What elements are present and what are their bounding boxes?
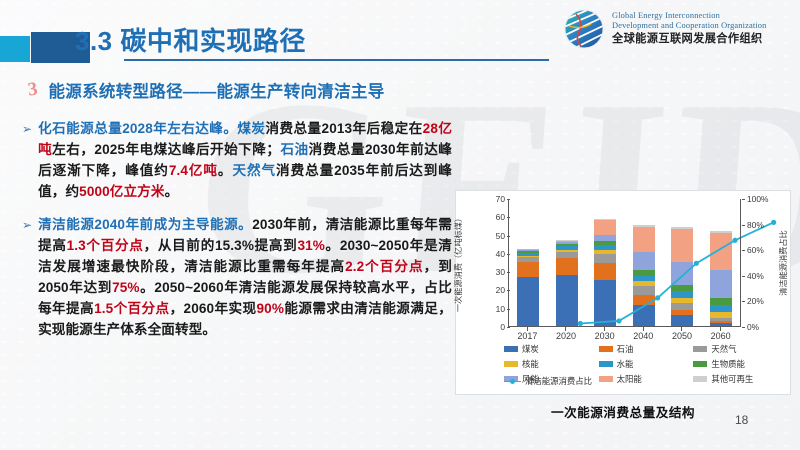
bullet-text: 清洁能源2040年前成为主导能源。2030年前，清洁能源比重每年需提高1.3个百… bbox=[38, 214, 452, 340]
chart-y-axis-label: 一次能源消费（亿吨标煤） bbox=[452, 214, 464, 312]
text-run: 5000亿立方米 bbox=[79, 184, 164, 199]
legend-item-太阳能: 太阳能 bbox=[599, 373, 692, 385]
globe-logo-icon bbox=[563, 8, 605, 50]
legend-swatch-icon bbox=[504, 361, 518, 367]
bullet-text: 化石能源总量2028年左右达峰。煤炭消费总量2013年后稳定在28亿吨左右，20… bbox=[38, 118, 452, 202]
text-run: 31% bbox=[297, 238, 325, 253]
legend-swatch-icon bbox=[693, 346, 707, 352]
bullet-arrow-icon: ➢ bbox=[22, 118, 32, 202]
legend-item-煤炭: 煤炭 bbox=[504, 343, 597, 355]
legend-label: 石油 bbox=[617, 343, 634, 355]
chart-y2-tick: 60% bbox=[747, 245, 764, 255]
share-line-point bbox=[616, 318, 621, 323]
text-run: 。 bbox=[165, 184, 179, 199]
logo-english-line2: Development and Cooperation Organization bbox=[612, 21, 766, 31]
text-run: 消费总量2013年后稳定在 bbox=[265, 121, 422, 136]
legend-label: 天然气 bbox=[711, 343, 736, 355]
text-run: ，从目前的15.3%提高到 bbox=[144, 238, 298, 253]
legend-item-水能: 水能 bbox=[599, 358, 692, 370]
bar-segment bbox=[517, 262, 539, 278]
chart-y-tick: 50 bbox=[496, 231, 505, 241]
logo-english-line1: Global Energy Interconnection bbox=[612, 11, 766, 21]
chart-y-tick: 40 bbox=[496, 249, 505, 259]
chart-y-tick: 0 bbox=[500, 322, 505, 332]
chart-y-tick: 60 bbox=[496, 212, 505, 222]
x-axis-label: 2017 bbox=[516, 331, 538, 341]
organization-logo: Global Energy Interconnection Developmen… bbox=[563, 8, 766, 50]
legend-swatch-icon bbox=[599, 376, 613, 382]
text-run: 7.4亿吨 bbox=[169, 163, 218, 178]
text-run: 1.3个百分点 bbox=[67, 238, 144, 253]
chart-y2-tick: 40% bbox=[747, 271, 764, 281]
share-line-point bbox=[771, 220, 776, 225]
share-line-point bbox=[655, 295, 660, 300]
chart-y2-tick: 100% bbox=[747, 194, 768, 204]
bullet-arrow-icon: ➢ bbox=[22, 214, 32, 340]
chart-y2-tick: 80% bbox=[747, 220, 764, 230]
chart-y2-tick: 20% bbox=[747, 296, 764, 306]
legend-label: 核能 bbox=[522, 358, 539, 370]
share-line-path bbox=[580, 222, 773, 323]
legend-swatch-icon bbox=[693, 376, 707, 382]
x-axis-label: 2050 bbox=[671, 331, 693, 341]
bullet-item: ➢ 清洁能源2040年前成为主导能源。2030年前，清洁能源比重每年需提高1.3… bbox=[22, 214, 452, 340]
legend-label: 生物质能 bbox=[711, 358, 745, 370]
x-axis-label: 2060 bbox=[710, 331, 732, 341]
text-run: 2.2个百分点 bbox=[345, 259, 424, 274]
chart-bar-2017 bbox=[517, 199, 539, 326]
legend-swatch-icon bbox=[504, 346, 518, 352]
chart-y-tick: 10 bbox=[496, 304, 505, 314]
text-run: 左右，2025年电煤达峰后开始下降； bbox=[52, 142, 280, 157]
chart-y-tick: 20 bbox=[496, 285, 505, 295]
chart-y-tick: 30 bbox=[496, 267, 505, 277]
subtitle-number-marker: 3 bbox=[27, 78, 39, 101]
bullet-item: ➢ 化石能源总量2028年左右达峰。煤炭消费总量2013年后稳定在28亿吨左右，… bbox=[22, 118, 452, 202]
legend-label: 其他可再生 bbox=[711, 373, 753, 385]
legend-swatch-icon bbox=[599, 346, 613, 352]
legend-label: 煤炭 bbox=[522, 343, 539, 355]
legend-label: 太阳能 bbox=[617, 373, 642, 385]
subtitle-label: 能源系统转型路径——能源生产转向清洁主导 bbox=[49, 78, 385, 102]
text-run: ，2060年实现 bbox=[170, 301, 257, 316]
slide-root: GEIDCO 3.3 碳中和实现路径 bbox=[0, 0, 800, 450]
text-run: 90% bbox=[257, 301, 285, 316]
legend-item-生物质能: 生物质能 bbox=[693, 358, 786, 370]
header-underline bbox=[124, 59, 549, 61]
line-legend-label: 清洁能源消费占比 bbox=[525, 375, 592, 387]
legend-swatch-icon bbox=[599, 361, 613, 367]
page-title: 3.3 碳中和实现路径 bbox=[75, 21, 306, 58]
chart-right-axis: 0%20%40%60%80%100% bbox=[740, 199, 741, 327]
page-number: 18 bbox=[735, 413, 748, 427]
x-axis-label: 2030 bbox=[594, 331, 616, 341]
x-axis-label: 2040 bbox=[632, 331, 654, 341]
chart-plot-area: 010203040506070 bbox=[508, 199, 740, 327]
chart-legend-line-entry: 清洁能源消费占比 bbox=[504, 375, 592, 387]
text-run: 75% bbox=[112, 280, 140, 295]
chart-y2-tick: 0% bbox=[747, 322, 759, 332]
chart-y-tick: 70 bbox=[496, 194, 505, 204]
primary-energy-chart: 一次能源消费（亿吨标煤） 清洁能源消费占比 010203040506070 0%… bbox=[455, 190, 791, 395]
line-swatch-icon bbox=[504, 378, 521, 385]
share-line-point bbox=[732, 238, 737, 243]
text-run: 清洁能源2040年前成为主导能源。 bbox=[38, 217, 252, 232]
text-run: 。 bbox=[218, 163, 233, 178]
share-line-point bbox=[578, 321, 583, 326]
logo-chinese-name: 全球能源互联网发展合作组织 bbox=[612, 33, 766, 47]
legend-swatch-icon bbox=[693, 361, 707, 367]
bar-segment bbox=[517, 277, 539, 326]
text-run: 天然气 bbox=[232, 163, 276, 178]
text-run: 化石能源总量2028年左右达峰。 bbox=[38, 121, 237, 136]
bullet-list: ➢ 化石能源总量2028年左右达峰。煤炭消费总量2013年后稳定在28亿吨左右，… bbox=[22, 118, 452, 340]
legend-label: 水能 bbox=[617, 358, 634, 370]
chart-x-axis-labels: 201720202030204020502060 bbox=[508, 331, 740, 341]
text-run: 石油 bbox=[280, 142, 309, 157]
section-subtitle: 3 能源系统转型路径——能源生产转向清洁主导 bbox=[28, 78, 385, 102]
legend-item-核能: 核能 bbox=[504, 358, 597, 370]
share-line-point bbox=[694, 261, 699, 266]
x-axis-label: 2020 bbox=[555, 331, 577, 341]
text-run: 煤炭 bbox=[237, 121, 265, 136]
legend-item-石油: 石油 bbox=[599, 343, 692, 355]
text-run: 1.5个百分点 bbox=[94, 301, 170, 316]
legend-item-其他可再生: 其他可再生 bbox=[693, 373, 786, 385]
legend-item-天然气: 天然气 bbox=[693, 343, 786, 355]
header-accent-cyan bbox=[0, 36, 30, 62]
